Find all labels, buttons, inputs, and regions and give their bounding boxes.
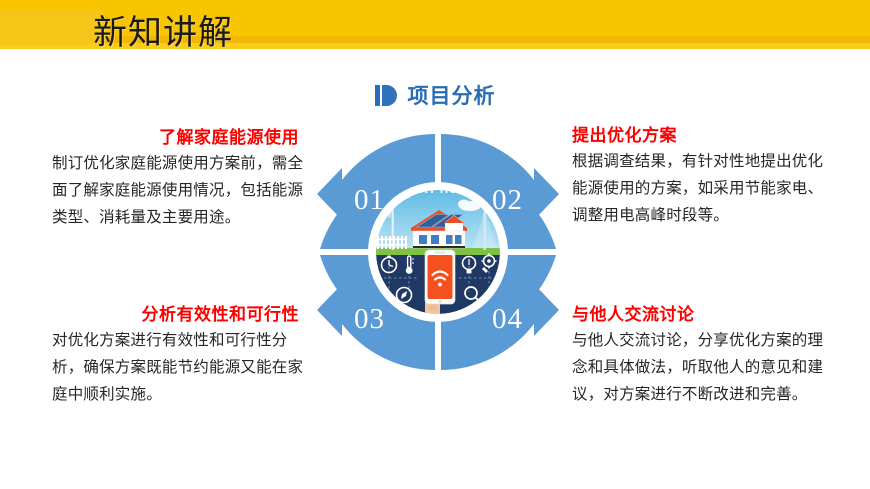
cycle-diagram: 01 02 03 04 (307, 132, 569, 372)
content-block-02-body: 根据调查结果，有针对性地提出优化能源使用的方案，如采用节能家电、调整用电高峰时段… (572, 148, 834, 229)
content-block-03: 分析有效性和可行性 对优化方案进行有效性和可行性分析，确保方案既能节约能源又能在… (52, 303, 304, 408)
quadrant-03-number: 03 (354, 303, 385, 335)
quadrant-02-number: 02 (492, 184, 523, 216)
content-block-01-heading: 了解家庭能源使用 (52, 126, 304, 150)
content-block-01-body: 制订优化家庭能源使用方案前，需全面了解家庭能源使用情况，包括能源类型、消耗量及主… (52, 150, 304, 231)
content-block-02-heading: 提出优化方案 (572, 124, 834, 148)
content-block-04-body: 与他人交流讨论，分享优化方案的理念和具体做法，听取他人的意见和建议，对方案进行不… (572, 327, 834, 408)
page-title: 新知讲解 (93, 14, 233, 54)
quadrant-04-number: 04 (492, 303, 523, 335)
quadrant-01-number: 01 (354, 184, 385, 216)
content-block-02: 提出优化方案 根据调查结果，有针对性地提出优化能源使用的方案，如采用节能家电、调… (572, 124, 834, 229)
section-title-text: 项目分析 (408, 80, 496, 110)
header-banner: 新知讲解 (0, 0, 870, 49)
smartphone-icon (425, 250, 455, 304)
content-block-03-heading: 分析有效性和可行性 (52, 303, 304, 327)
content-block-04: 与他人交流讨论 与他人交流讨论，分享优化方案的理念和具体做法，听取他人的意见和建… (572, 303, 834, 408)
content-block-04-heading: 与他人交流讨论 (572, 303, 834, 327)
half-disc-icon (375, 85, 397, 106)
content-block-01: 了解家庭能源使用 制订优化家庭能源使用方案前，需全面了解家庭能源使用情况，包括能… (52, 126, 304, 231)
header-left-tab (0, 10, 103, 45)
content-block-03-body: 对优化方案进行有效性和可行性分析，确保方案既能节约能源又能在家庭中顺利实施。 (52, 327, 304, 408)
section-title: 项目分析 (0, 80, 870, 111)
